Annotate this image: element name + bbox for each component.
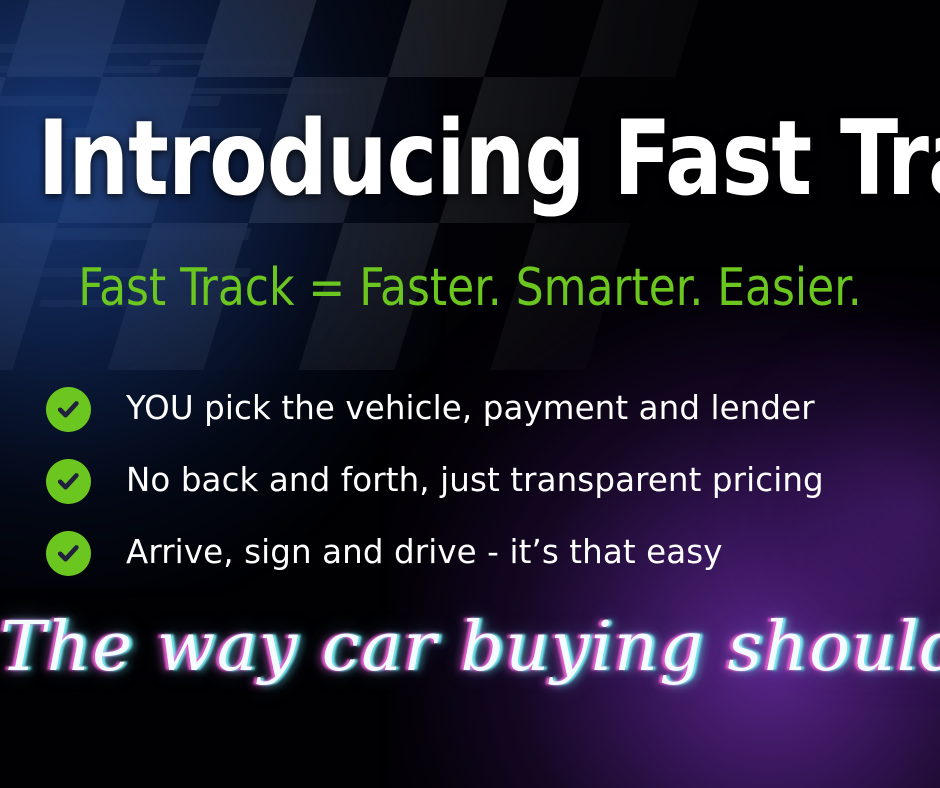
check-circle-icon: [46, 531, 91, 576]
promo-poster: Introducing Fast Track Fast Track = Fast…: [0, 0, 940, 788]
list-item-label: YOU pick the vehicle, payment and lender: [126, 391, 815, 427]
list-item: No back and forth, just transparent pric…: [46, 445, 900, 517]
poster-content: Introducing Fast Track Fast Track = Fast…: [0, 0, 940, 788]
page-title: Introducing Fast Track: [38, 108, 903, 211]
tagline: The way car buying should be.: [0, 612, 940, 683]
list-item-label: No back and forth, just transparent pric…: [126, 463, 824, 499]
benefits-list: YOU pick the vehicle, payment and lender…: [46, 373, 900, 589]
list-item: YOU pick the vehicle, payment and lender: [46, 373, 900, 445]
list-item: Arrive, sign and drive - it’s that easy: [46, 517, 900, 589]
check-circle-icon: [46, 387, 91, 432]
subtitle: Fast Track = Faster. Smarter. Easier.: [28, 262, 912, 314]
list-item-label: Arrive, sign and drive - it’s that easy: [126, 535, 723, 571]
check-circle-icon: [46, 459, 91, 504]
